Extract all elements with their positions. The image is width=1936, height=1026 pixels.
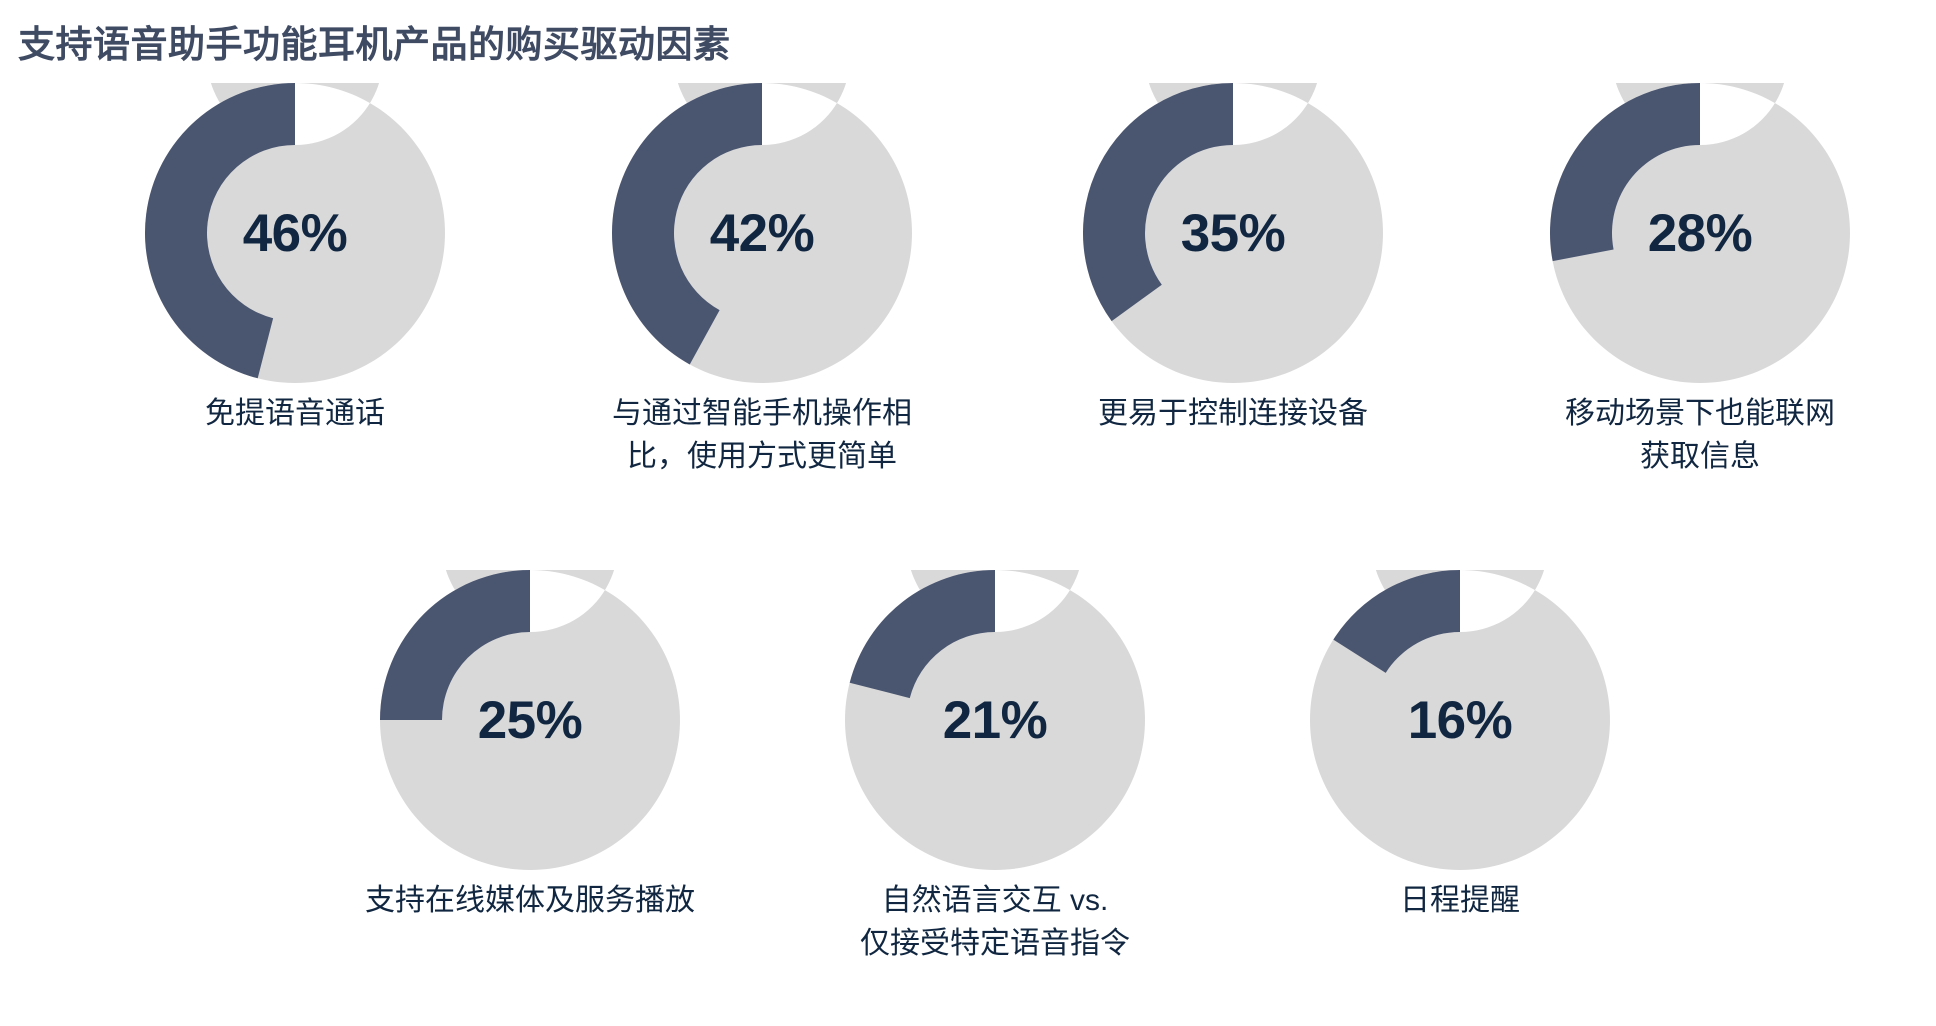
donut-chart-6: 21%自然语言交互 vs. 仅接受特定语音指令 <box>775 570 1215 965</box>
donut-category-label-5: 支持在线媒体及服务播放 <box>340 880 720 923</box>
donut-chart-grid: 46%免提语音通话42%与通过智能手机操作相 比，使用方式更简单35%更易于控制… <box>0 0 1936 1026</box>
donut-category-label-1: 免提语音通话 <box>105 393 485 436</box>
donut-ring-1: 46% <box>145 83 445 383</box>
donut-chart-1: 46%免提语音通话 <box>75 83 515 436</box>
donut-category-label-7: 日程提醒 <box>1270 880 1650 923</box>
donut-chart-5: 25%支持在线媒体及服务播放 <box>310 570 750 923</box>
donut-ring-7: 16% <box>1310 570 1610 870</box>
donut-chart-3: 35%更易于控制连接设备 <box>1013 83 1453 436</box>
donut-category-label-2: 与通过智能手机操作相 比，使用方式更简单 <box>572 393 952 478</box>
donut-chart-2: 42%与通过智能手机操作相 比，使用方式更简单 <box>542 83 982 478</box>
donut-ring-3: 35% <box>1083 83 1383 383</box>
donut-chart-4: 28%移动场景下也能联网 获取信息 <box>1480 83 1920 478</box>
donut-category-label-4: 移动场景下也能联网 获取信息 <box>1510 393 1890 478</box>
donut-category-label-3: 更易于控制连接设备 <box>1043 393 1423 436</box>
donut-ring-6: 21% <box>845 570 1145 870</box>
donut-ring-4: 28% <box>1550 83 1850 383</box>
donut-ring-2: 42% <box>612 83 912 383</box>
donut-category-label-6: 自然语言交互 vs. 仅接受特定语音指令 <box>805 880 1185 965</box>
donut-ring-5: 25% <box>380 570 680 870</box>
donut-chart-7: 16%日程提醒 <box>1240 570 1680 923</box>
